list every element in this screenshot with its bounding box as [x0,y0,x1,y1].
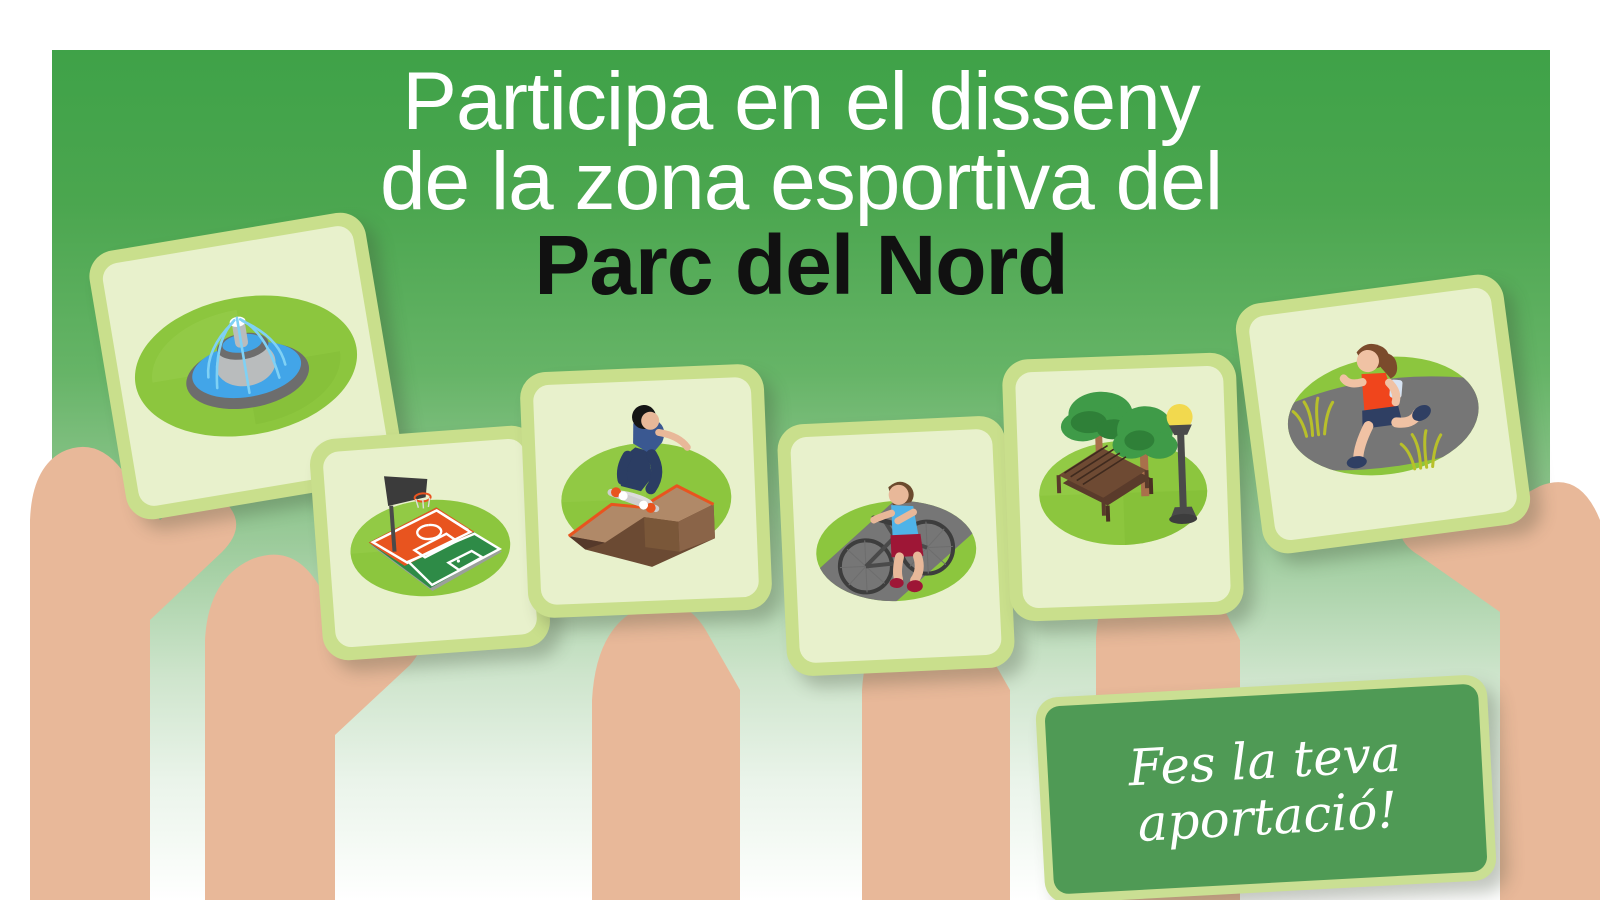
card-face [790,429,1002,664]
basketball-football-court-icon [322,438,538,648]
footer: Ajuntament de Sabadell Hi col·labora: Di… [0,782,1600,854]
bench-trees-lamp-icon [1015,365,1231,608]
card-face [533,377,760,606]
hand-center-1 [592,603,740,900]
park-bench-card[interactable] [1001,352,1244,622]
card-face [1015,365,1231,608]
skateboarder-ramp-icon [533,377,760,606]
bike-path-card[interactable] [776,415,1015,677]
skatepark-card[interactable] [519,363,773,619]
cyclist-icon [790,429,1002,664]
sports-courts-card[interactable] [308,424,552,662]
card-face [1247,286,1518,542]
poster-canvas: Participa en el disseny de la zona espor… [0,0,1600,900]
running-path-card[interactable] [1233,271,1534,556]
card-face [322,438,538,648]
runner-icon [1247,286,1518,542]
